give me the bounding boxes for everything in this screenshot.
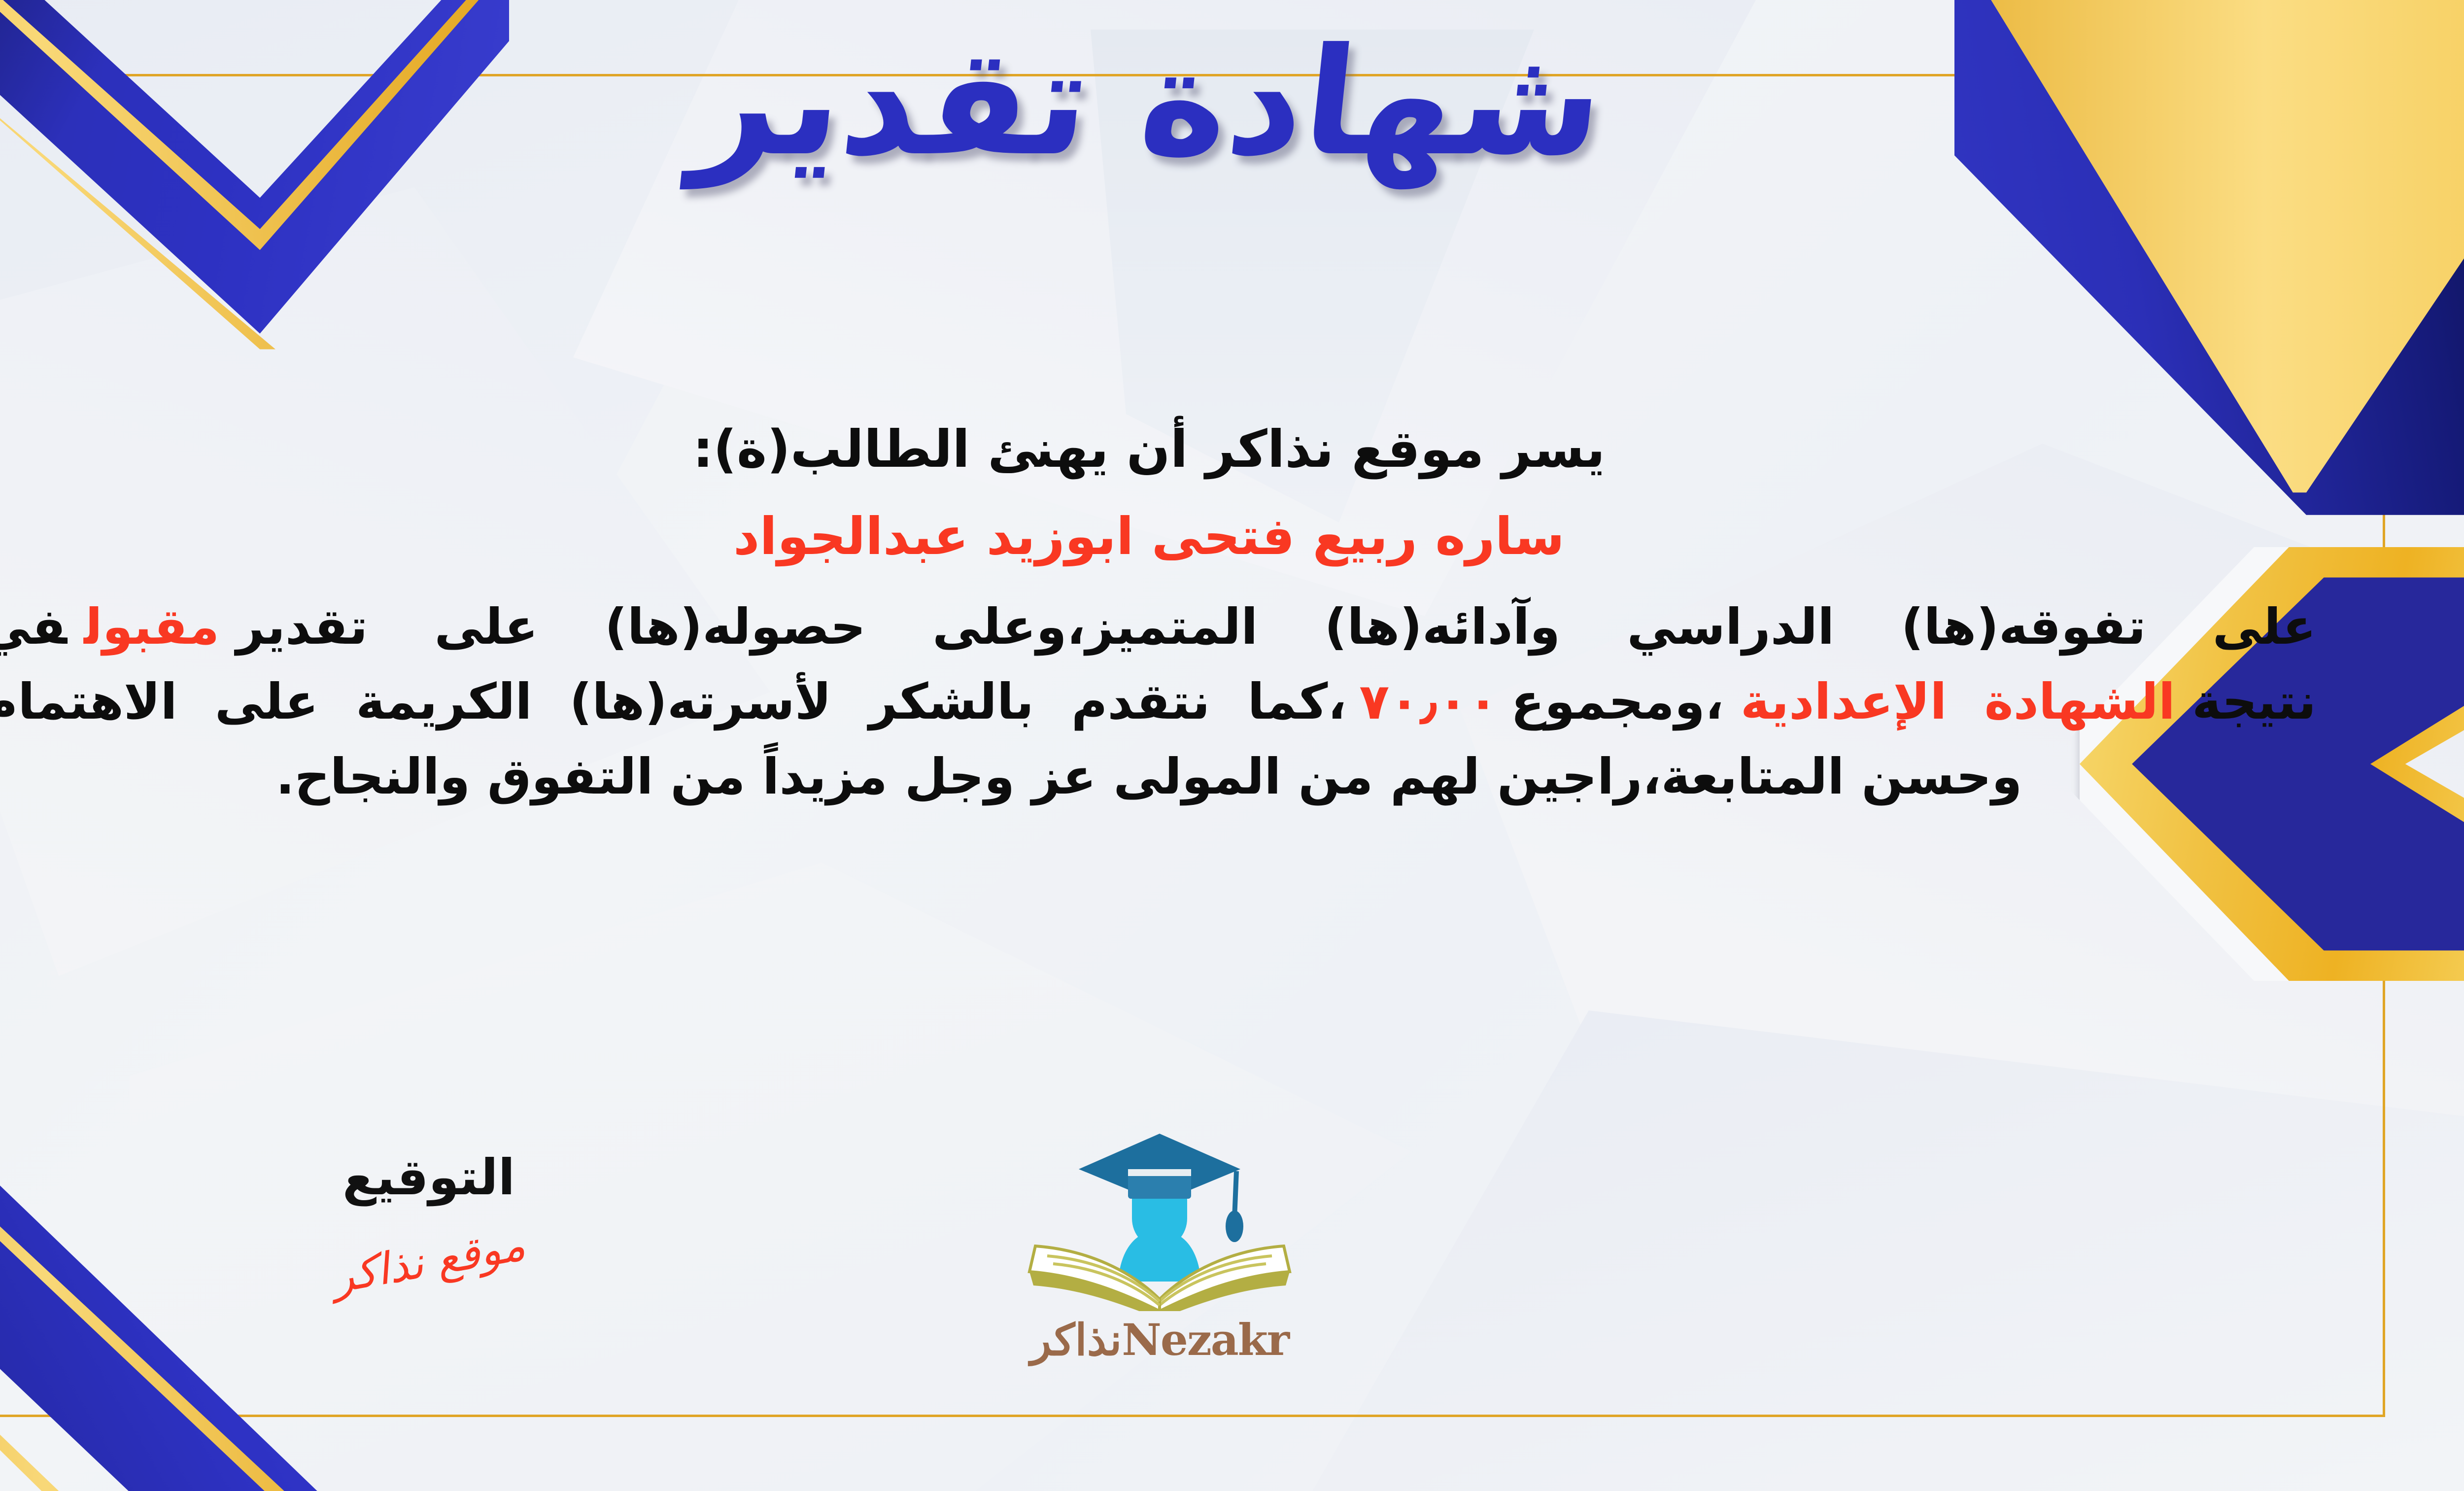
achievement-text-part1: على تفوقه(ها) الدراسي وآدائه(ها) المتميز…: [236, 598, 2316, 656]
achievement-text-part3: ،ومجموع: [1511, 673, 1724, 730]
total-score: ٧٠٫٠٠: [1346, 673, 1511, 730]
exam-name: الشهادة الإعدادية: [1724, 673, 2192, 730]
signature-block: التوقيع موقع نذاكر: [276, 1148, 582, 1286]
certificate-content: شهادة تقدير يسر موقع نذاكر أن يهنئ الطال…: [0, 0, 2464, 1491]
logo-latin-text: Nezakr: [1122, 1314, 1289, 1365]
site-logo: Nezakrنذاكر: [972, 1124, 1347, 1365]
achievement-paragraph: على تفوقه(ها) الدراسي وآدائه(ها) المتميز…: [0, 589, 2316, 814]
certificate-page: شهادة تقدير يسر موقع نذاكر أن يهنئ الطال…: [0, 0, 2464, 1491]
signature-mark: موقع نذاكر: [329, 1219, 529, 1303]
grade-value: مقبول: [67, 598, 236, 656]
signature-label: التوقيع: [276, 1148, 582, 1206]
spacer: [0, 485, 2316, 498]
logo-arabic-text: نذاكر: [1030, 1314, 1122, 1365]
certificate-title: شهادة تقدير: [0, 25, 2464, 180]
graduate-book-logo-icon: [1022, 1124, 1298, 1311]
achievement-text-part6: مزيداً من التفوق والنجاح.: [276, 748, 888, 805]
achievement-text-part4: ،كما نتقدم بالشكر لأسرته(ها): [570, 673, 1347, 730]
intro-line: يسر موقع نذاكر أن يهنئ الطالب(ة):: [0, 414, 2316, 485]
logo-wordmark: Nezakrنذاكر: [972, 1314, 1347, 1365]
certificate-body: يسر موقع نذاكر أن يهنئ الطالب(ة): ساره ر…: [0, 414, 2316, 814]
student-name: ساره ربيع فتحى ابوزيد عبدالجواد: [0, 498, 2316, 575]
